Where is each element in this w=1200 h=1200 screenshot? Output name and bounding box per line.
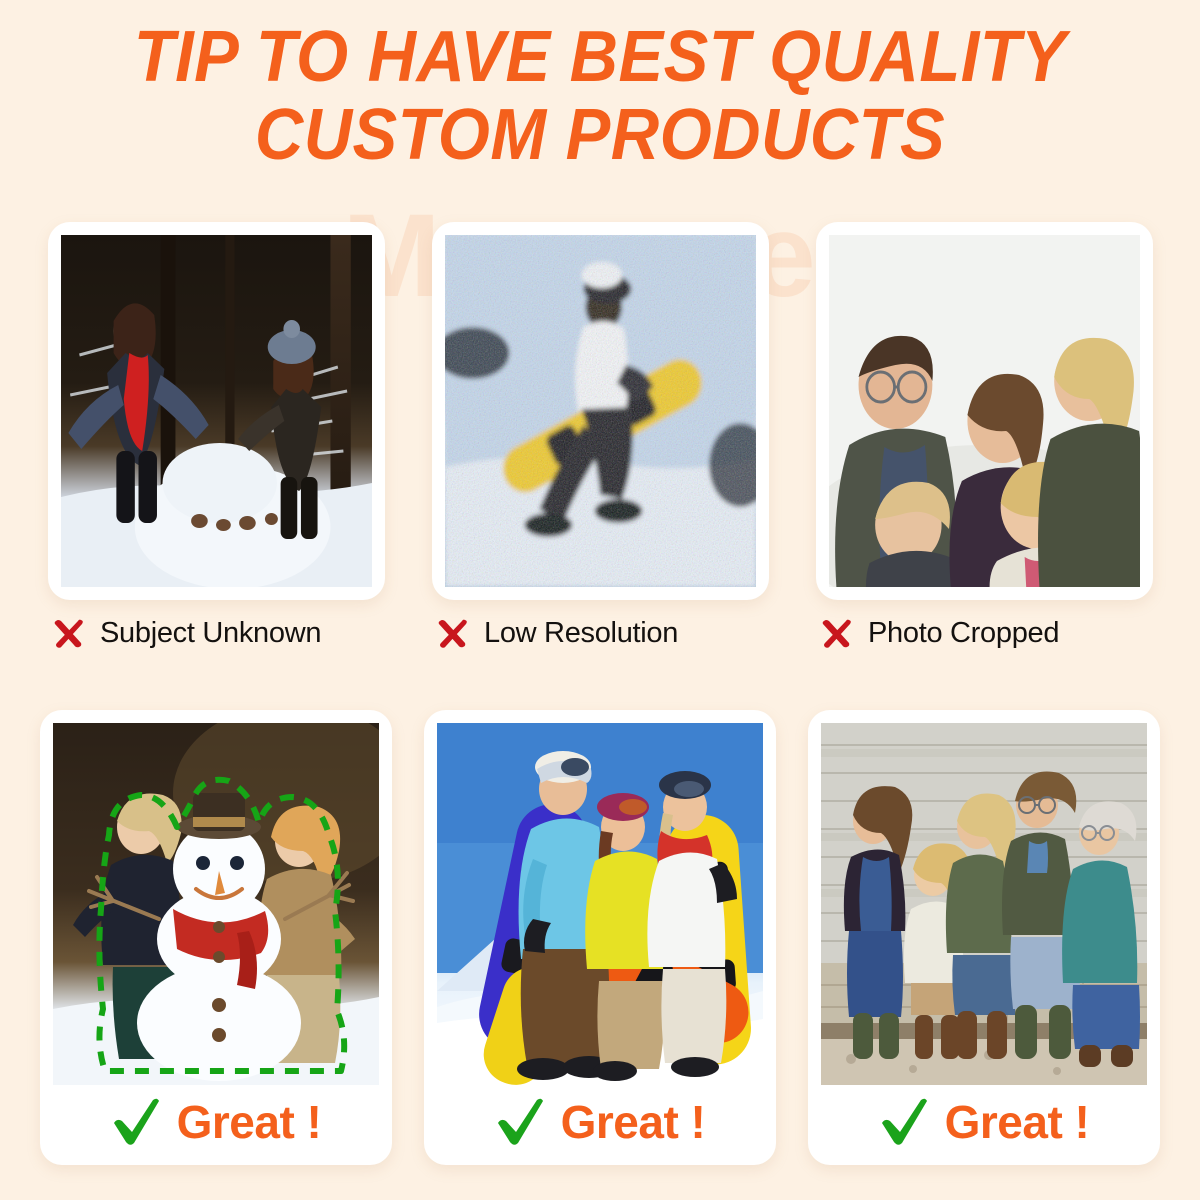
photo-cropped: [829, 235, 1140, 587]
title-line-2: CUSTOM PRODUCTS: [42, 96, 1158, 174]
example-label: Subject Unknown: [100, 617, 321, 650]
photo-card: Great !: [424, 710, 776, 1165]
photo-snowman-outlined: [53, 723, 379, 1085]
example-label: Great !: [561, 1095, 706, 1149]
good-examples-row: Great !: [0, 710, 1200, 1165]
photo-snowboarders: [437, 723, 763, 1085]
example-label: Great !: [945, 1095, 1090, 1149]
example-label-row: Photo Cropped: [808, 616, 1160, 650]
examples-grid: Subject Unknown: [0, 222, 1200, 1165]
photo-family-barn: [821, 723, 1147, 1085]
example-label: Great !: [177, 1095, 322, 1149]
check-mark-icon: [879, 1096, 931, 1148]
example-label: Low Resolution: [484, 617, 678, 650]
example-label-row: Great !: [53, 1091, 379, 1159]
example-cell-subject-unknown: Subject Unknown: [40, 222, 392, 650]
check-mark-icon: [111, 1096, 163, 1148]
example-cell-great-snowboarders: Great !: [424, 710, 776, 1165]
bad-examples-row: Subject Unknown: [0, 222, 1200, 650]
photo-card: [48, 222, 385, 600]
example-label-row: Great !: [437, 1091, 763, 1159]
title-line-1: TIP TO HAVE BEST QUALITY: [42, 18, 1158, 96]
example-cell-photo-cropped: Photo Cropped: [808, 222, 1160, 650]
photo-card: [816, 222, 1153, 600]
example-label-row: Great !: [821, 1091, 1147, 1159]
example-cell-low-resolution: Low Resolution: [424, 222, 776, 650]
photo-card: [432, 222, 769, 600]
x-mark-icon: [52, 616, 86, 650]
infographic-page: Macorner TIP TO HAVE BEST QUALITY CUSTOM…: [0, 0, 1200, 1200]
example-cell-great-family: Great !: [808, 710, 1160, 1165]
example-label-row: Low Resolution: [424, 616, 776, 650]
photo-card: Great !: [808, 710, 1160, 1165]
example-label-row: Subject Unknown: [40, 616, 392, 650]
photo-low-resolution: [445, 235, 756, 587]
page-title: TIP TO HAVE BEST QUALITY CUSTOM PRODUCTS: [0, 18, 1200, 174]
x-mark-icon: [436, 616, 470, 650]
photo-card: Great !: [40, 710, 392, 1165]
example-cell-great-snowman: Great !: [40, 710, 392, 1165]
example-label: Photo Cropped: [868, 617, 1059, 650]
check-mark-icon: [495, 1096, 547, 1148]
x-mark-icon: [820, 616, 854, 650]
photo-subject-unknown: [61, 235, 372, 587]
